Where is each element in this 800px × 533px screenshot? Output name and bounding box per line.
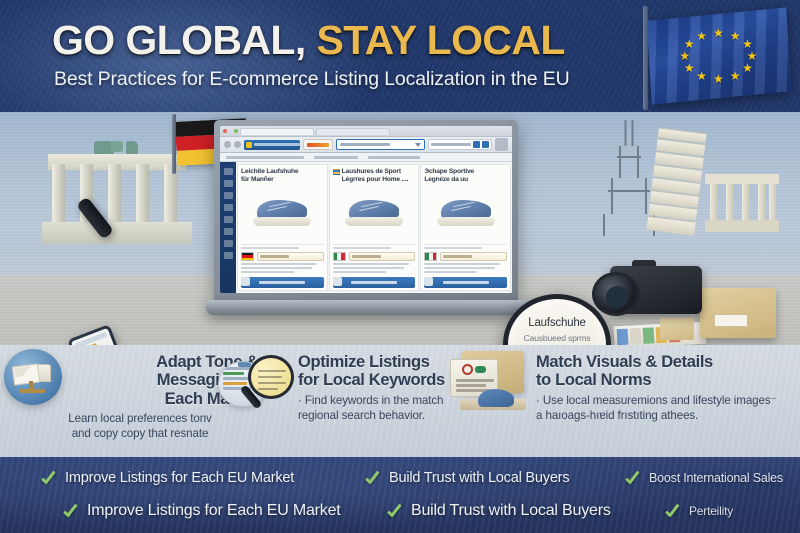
- smartphone: [67, 324, 132, 345]
- tip-3-body-line-1: · Use local measuremions and lifestyle i…: [536, 394, 794, 409]
- hero-scene: Leichite Laufshuhefür ManñerLaushures de…: [0, 112, 800, 345]
- tip-optimize-listings: Optimize Listings for Local Keywords · F…: [212, 349, 462, 453]
- benefit-item: Build Trust with Local Buyers: [386, 502, 611, 520]
- eu-star-5: ★: [742, 62, 753, 74]
- listing-title-line-1: Laushures de Sport: [342, 168, 409, 176]
- mailbox-icon: [4, 349, 70, 405]
- check-icon: [364, 469, 382, 487]
- benefits-row-1: Improve Listings for Each EU MarketBuild…: [0, 463, 800, 493]
- price-row: [333, 252, 416, 261]
- eu-star-2: ★: [730, 30, 741, 42]
- tip-2-text: Optimize Listings for Local Keywords · F…: [298, 349, 462, 423]
- brandenburg-gate-icon: [42, 134, 192, 244]
- country-flag-icon: [241, 252, 254, 261]
- address-bar[interactable]: [428, 139, 492, 150]
- price-badge: [257, 252, 324, 261]
- german-flag-pole: [172, 114, 176, 174]
- listing-grid: Leichite Laufshuhefür ManñerLaushures de…: [220, 162, 512, 293]
- shipping-box-icon: [444, 349, 536, 411]
- browser-sidebar[interactable]: [220, 162, 236, 293]
- listing-card[interactable]: Эchape SportiveLegnıize da uu: [420, 164, 511, 291]
- benefit-label: Build Trust with Local Buyers: [411, 502, 611, 520]
- magnifier-keyword: Causbueed sprms: [516, 333, 598, 345]
- country-flag-icon: [333, 252, 346, 261]
- check-icon: [386, 502, 404, 520]
- add-to-cart-button[interactable]: [424, 277, 507, 288]
- phone-screen: [71, 328, 128, 345]
- benefit-label: Build Trust with Local Buyers: [389, 470, 569, 486]
- listing-title-line-1: Leichite Laufshuhe: [241, 168, 298, 176]
- check-icon: [664, 502, 682, 520]
- benefits-bar: Improve Listings for Each EU MarketBuild…: [0, 457, 800, 533]
- tip-2-body-line-1: · Find keywords in the match: [298, 394, 462, 409]
- listing-cards: Leichite Laufshuhefür ManñerLaushures de…: [236, 162, 512, 293]
- bookmark-icon[interactable]: [473, 141, 480, 148]
- listing-badge: [333, 277, 342, 286]
- window-minimize-icon[interactable]: [229, 129, 233, 133]
- eu-star-12: ★: [696, 30, 707, 42]
- window-maximize-icon[interactable]: [234, 129, 238, 133]
- tip-2-heading-line-1: Optimize Listings: [298, 353, 462, 371]
- listing-card[interactable]: Laushures de SportLégrres pour Home ....: [329, 164, 420, 291]
- benefit-label: Improve Listings for Each EU Market: [65, 470, 294, 486]
- tip-3-text: Match Visuals & Details to Local Norms ·…: [536, 349, 794, 423]
- shipping-box-small: [660, 318, 694, 340]
- price-row: [241, 252, 324, 261]
- benefit-label: Improve Listings for Each EU Market: [87, 502, 341, 520]
- marketplace-badge: [303, 139, 333, 150]
- chevron-down-icon[interactable]: [415, 143, 421, 147]
- product-image[interactable]: [424, 184, 507, 241]
- listing-title: Leichite Laufshuhefür Manñer: [241, 168, 324, 184]
- title-part-1: GO GLOBAL,: [52, 17, 306, 63]
- eu-star-7: ★: [713, 73, 724, 85]
- page-title: GO GLOBAL, STAY LOCAL: [52, 20, 565, 61]
- listing-title: Laushures de SportLégrres pour Home ....: [333, 168, 416, 184]
- listing-title-line-1: Эchape Sportive: [424, 168, 474, 176]
- eu-star-1: ★: [713, 27, 724, 39]
- page-subtitle: Best Practices for E-commerce Listing Lo…: [54, 68, 570, 91]
- listing-title: Эchape SportiveLegnıize da uu: [424, 168, 507, 184]
- shipping-box-large: [700, 288, 776, 338]
- add-to-cart-button[interactable]: [241, 277, 324, 288]
- eu-flag-icon: [647, 7, 792, 104]
- browser-toolbar[interactable]: [220, 137, 512, 153]
- browser-window: Leichite Laufshuhefür ManñerLaushures de…: [220, 126, 512, 293]
- browser-tab-2[interactable]: [316, 128, 390, 135]
- eu-star-10: ★: [679, 50, 690, 62]
- product-image[interactable]: [333, 184, 416, 241]
- benefit-item: Improve Listings for Each EU Market: [62, 502, 341, 520]
- magnifier-keyword: Laufschuhe: [516, 316, 598, 332]
- tip-3-heading-line-1: Match Visuals & Details: [536, 353, 794, 371]
- benefit-label: Boost International Sales: [649, 471, 783, 485]
- tip-2-body-line-2: regional search behavior.: [298, 409, 462, 424]
- browser-tab-active[interactable]: [240, 128, 314, 135]
- store-logo[interactable]: [244, 140, 300, 150]
- browser-breadcrumb: [220, 153, 512, 162]
- browser-tabstrip[interactable]: [220, 126, 512, 137]
- listing-badge: [241, 277, 250, 286]
- benefits-row-2: Improve Listings for Each EU MarketBuild…: [0, 495, 800, 527]
- check-icon: [624, 469, 642, 487]
- price-row: [424, 252, 507, 261]
- tip-3-body-line-2: a haıoags-hıɐid frıstıting athees.: [536, 409, 794, 424]
- keyword-magnifier: LaufschuheCausbueed sprmschausure hommes…: [503, 294, 611, 345]
- tip-match-visuals: Match Visuals & Details to Local Norms ·…: [444, 349, 796, 453]
- benefit-item: Improve Listings for Each EU Market: [40, 469, 294, 487]
- quadriga-icon: [94, 132, 140, 154]
- eu-star-6: ★: [730, 70, 741, 82]
- check-icon: [40, 469, 58, 487]
- window-close-icon[interactable]: [223, 129, 227, 133]
- benefit-item: Build Trust with Local Buyers: [364, 469, 569, 487]
- price-badge: [349, 252, 416, 261]
- title-part-2: STAY LOCAL: [316, 17, 564, 63]
- tips-row: Adapt Tone & Messaging to Each Market Le…: [0, 345, 800, 457]
- listing-title-line-2: für Manñer: [241, 176, 298, 184]
- shipping-label: [714, 314, 748, 327]
- menu-icon[interactable]: [482, 141, 489, 148]
- tip-3-heading-line-2: to Local Norms: [536, 371, 794, 389]
- eu-star-9: ★: [684, 62, 695, 74]
- magnifier-clipboard-icon: [212, 349, 298, 413]
- listing-flag-icon: [333, 169, 340, 175]
- laptop-lid: Leichite Laufshuhefür ManñerLaushures de…: [214, 120, 518, 302]
- back-button[interactable]: [224, 141, 231, 148]
- laptop-base: [206, 300, 526, 315]
- magnifier-lens: LaufschuheCausbueed sprmschausure hommes…: [503, 294, 611, 345]
- laptop: Leichite Laufshuhefür ManñerLaushures de…: [206, 120, 526, 335]
- benefit-label: Perteility: [689, 504, 733, 518]
- check-icon: [62, 502, 80, 520]
- account-avatar[interactable]: [495, 138, 508, 151]
- header-banner: ★★★★★★★★★★★★ GO GLOBAL, STAY LOCAL Best …: [0, 0, 800, 112]
- benefit-item: Perteility: [664, 502, 733, 520]
- eu-star-11: ★: [684, 38, 695, 50]
- search-input[interactable]: [336, 139, 425, 150]
- listing-title-line-2: Legnıize da uu: [424, 176, 474, 184]
- listing-card[interactable]: Leichite Laufshuhefür Manñer: [237, 164, 328, 291]
- listing-badge: [424, 277, 433, 286]
- tip-2-heading-line-2: for Local Keywords: [298, 371, 462, 389]
- infographic-canvas: ★★★★★★★★★★★★ GO GLOBAL, STAY LOCAL Best …: [0, 0, 800, 533]
- country-flag-icon: [424, 252, 437, 261]
- add-to-cart-button[interactable]: [333, 277, 416, 288]
- listing-title-line-2: Légrres pour Home ....: [342, 176, 409, 184]
- classical-temple-icon: [705, 174, 779, 232]
- forward-button[interactable]: [234, 141, 241, 148]
- product-image[interactable]: [241, 184, 324, 241]
- eu-star-8: ★: [696, 70, 707, 82]
- benefit-item: Boost International Sales: [624, 469, 783, 487]
- price-badge: [440, 252, 507, 261]
- eu-flag-pole: [643, 6, 648, 110]
